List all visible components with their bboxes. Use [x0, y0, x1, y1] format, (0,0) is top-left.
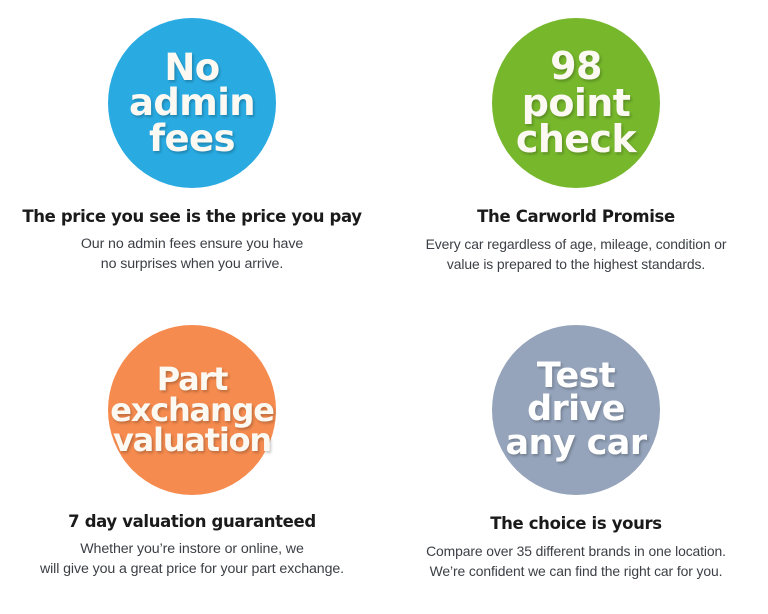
- badge-label: 98 point check: [492, 48, 660, 157]
- feature-heading: The choice is yours: [490, 514, 662, 534]
- badge-circle-no-admin-fees: No admin fees: [108, 18, 276, 188]
- feature-card-no-admin-fees: No admin fees The price you see is the p…: [0, 0, 384, 307]
- feature-card-test-drive-any-car: Test drive any car The choice is yours C…: [384, 307, 768, 614]
- badge-label: Part exchange valuation: [108, 364, 276, 456]
- badge-circle-test-drive-any-car: Test drive any car: [492, 325, 660, 495]
- badge-label: Test drive any car: [492, 360, 660, 461]
- feature-heading: The Carworld Promise: [477, 207, 675, 227]
- feature-card-part-exchange-valuation: Part exchange valuation 7 day valuation …: [0, 307, 384, 614]
- feature-card-98-point-check: 98 point check The Carworld Promise Ever…: [384, 0, 768, 307]
- feature-description: Our no admin fees ensure you have no sur…: [81, 234, 303, 275]
- feature-description: Every car regardless of age, mileage, co…: [426, 234, 727, 274]
- badge-label: No admin fees: [108, 50, 276, 157]
- badge-circle-98-point-check: 98 point check: [492, 18, 660, 188]
- feature-description: Whether you’re instore or online, we wil…: [40, 539, 344, 580]
- feature-heading: 7 day valuation guaranteed: [68, 512, 316, 532]
- features-grid: No admin fees The price you see is the p…: [0, 0, 768, 614]
- badge-circle-part-exchange-valuation: Part exchange valuation: [108, 325, 276, 495]
- feature-description: Compare over 35 different brands in one …: [426, 541, 726, 581]
- feature-heading: The price you see is the price you pay: [22, 207, 361, 227]
